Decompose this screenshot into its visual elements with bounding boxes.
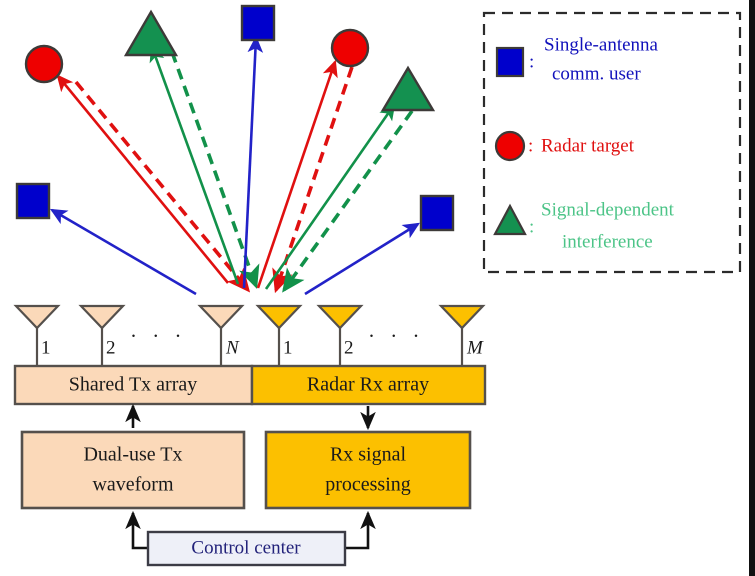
radar-target-right-marker: [332, 30, 368, 66]
rx-antenna-2-label: 2: [344, 337, 354, 358]
rx-signal-processing-line1: Rx signal: [330, 444, 407, 466]
right-edge-strip: [749, 0, 755, 576]
tx-antenna-1: 1: [16, 306, 58, 367]
system-diagram: : Single-antenna comm. user : Radar targ…: [0, 0, 755, 576]
rx-antenna-1-label: 1: [283, 337, 293, 358]
rx-antenna-2: 2: [319, 306, 361, 367]
legend-panel: : Single-antenna comm. user : Radar targ…: [484, 13, 740, 272]
tx-antenna-n-horn: [200, 306, 242, 328]
legend-label-2-line1: Radar target: [541, 135, 635, 156]
radar-transmit-arrow-right: [258, 62, 335, 288]
interference-left-marker: [126, 12, 176, 55]
tx-antenna-n-label: N: [225, 337, 240, 358]
radar-rx-array-label: Radar Rx array: [307, 374, 429, 396]
link-interference-left: [152, 47, 256, 286]
comm-user-right-marker: [421, 196, 453, 230]
rx-antenna-m-label: M: [466, 337, 484, 358]
legend-label-1-line2: comm. user: [552, 63, 641, 84]
rx-antenna-1-horn: [258, 306, 300, 328]
legend-label-3-line2: interference: [562, 231, 653, 252]
comm-user-top-marker: [242, 6, 274, 40]
legend-square-marker: [497, 48, 523, 76]
legend-label-3-line1: Signal-dependent: [541, 199, 675, 220]
control-to-rx-processing-arrow: [345, 513, 368, 548]
tx-antenna-2: 2: [81, 306, 123, 367]
comm-downlink-arrow-top: [244, 38, 256, 288]
legend-label-1-line1: Single-antenna: [544, 34, 659, 55]
legend-circle-marker: [496, 132, 524, 160]
antenna-elements: 1 2 · · · N 1 2: [16, 306, 484, 367]
legend-separator-1: :: [529, 51, 534, 72]
comm-user-left-marker: [17, 184, 49, 218]
array-bars[interactable]: Shared Tx array Radar Rx array: [15, 366, 485, 404]
tx-antenna-2-label: 2: [106, 337, 116, 358]
radar-target-left-marker: [26, 46, 62, 82]
tx-antenna-n: N: [200, 306, 242, 367]
scene-nodes: [17, 6, 453, 230]
processing-blocks[interactable]: Dual-use Tx waveform Rx signal processin…: [22, 432, 470, 565]
propagation-links: [52, 38, 418, 294]
rx-antenna-m-horn: [441, 306, 483, 328]
tx-array-ellipsis: · · ·: [130, 324, 186, 348]
radar-echo-arrow-left: [76, 82, 248, 290]
interference-transmit-arrow-left: [152, 47, 238, 284]
tx-antenna-1-label: 1: [41, 337, 51, 358]
interference-transmit-arrow-right: [266, 105, 394, 289]
shared-tx-array-label: Shared Tx array: [69, 374, 197, 396]
rx-array-ellipsis: · · ·: [368, 324, 424, 348]
figure-canvas: : Single-antenna comm. user : Radar targ…: [0, 0, 755, 576]
control-to-tx-waveform-arrow: [133, 513, 148, 548]
link-comm-user-left: [52, 210, 196, 294]
legend-separator-3: :: [529, 216, 534, 237]
comm-downlink-arrow-left: [52, 210, 196, 294]
dual-use-tx-waveform-line2: waveform: [92, 474, 174, 496]
rx-antenna-m: M: [441, 306, 484, 367]
rx-signal-processing-line2: processing: [325, 474, 411, 496]
link-radar-target-left: [58, 76, 248, 290]
legend-separator-2: :: [528, 135, 533, 156]
control-center-label: Control center: [191, 537, 301, 558]
link-radar-target-right: [258, 62, 352, 290]
dual-use-tx-waveform-line1: Dual-use Tx: [83, 444, 182, 466]
tx-antenna-2-horn: [81, 306, 123, 328]
rx-antenna-2-horn: [319, 306, 361, 328]
link-comm-user-top: [244, 38, 256, 288]
interference-right-marker: [383, 68, 433, 110]
interference-echo-arrow-right: [284, 111, 412, 290]
tx-antenna-1-horn: [16, 306, 58, 328]
radar-transmit-arrow-left: [58, 76, 228, 283]
rx-antenna-1: 1: [258, 306, 300, 367]
